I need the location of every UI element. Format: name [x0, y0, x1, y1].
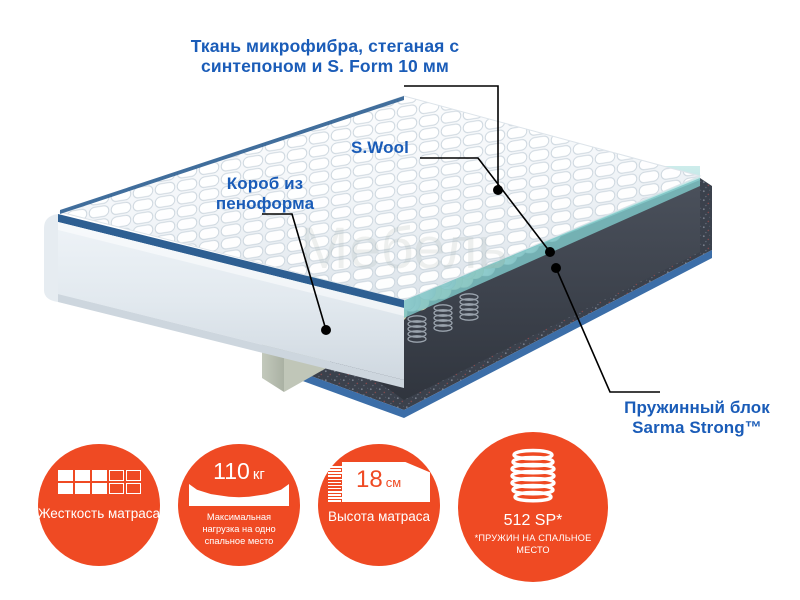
badge-height-number: 18: [356, 466, 383, 493]
firmness-cell: [75, 470, 90, 494]
firmness-cell: [109, 470, 124, 494]
badge-height-caption: Высота матраса: [328, 509, 430, 525]
badge-load-value: 110кг: [213, 460, 265, 483]
badge-spring-count[interactable]: 512 SP* *ПРУЖИН НА СПАЛЬНОЕ МЕСТО: [458, 432, 608, 582]
badge-height[interactable]: 18см Высота матраса: [318, 444, 440, 566]
mattress-left-corner: [44, 214, 58, 302]
badge-springs-value: 512 SP*: [504, 512, 563, 530]
badge-springs-caption: *ПРУЖИН НА СПАЛЬНОЕ МЕСТО: [458, 533, 608, 557]
badge-firmness-caption: Жесткость матраса: [38, 506, 160, 522]
firmness-grid-icon: [58, 470, 141, 494]
badge-firmness[interactable]: Жесткость матраса: [38, 444, 160, 566]
badge-height-value: 18см: [356, 468, 401, 492]
firmness-cell: [92, 470, 107, 494]
ruler-icon: [328, 466, 350, 502]
label-fabric: Ткань микрофибра, стеганая с синтепоном …: [130, 36, 520, 76]
label-swool: S.Wool: [300, 138, 460, 158]
watermark: Мебель: [300, 216, 508, 281]
badge-height-unit: см: [386, 475, 401, 490]
coil-spring-icon: [500, 445, 566, 507]
firmness-cell: [58, 470, 73, 494]
badge-load-caption: Максимальная нагрузка на одно спальное м…: [189, 511, 289, 547]
badge-max-load[interactable]: 110кг Максимальная нагрузка на одно спал…: [178, 444, 300, 566]
mattress-load-icon: [189, 484, 289, 506]
feature-badges: Жесткость матраса 110кг Максимальная наг…: [0, 432, 800, 600]
badge-load-number: 110: [213, 458, 250, 484]
infographic-canvas: Мебель Ткань микрофибра, стеганая с синт…: [0, 0, 800, 600]
label-foam: Короб из пеноформа: [180, 174, 350, 213]
firmness-cell: [126, 470, 141, 494]
badge-load-unit: кг: [253, 466, 265, 483]
